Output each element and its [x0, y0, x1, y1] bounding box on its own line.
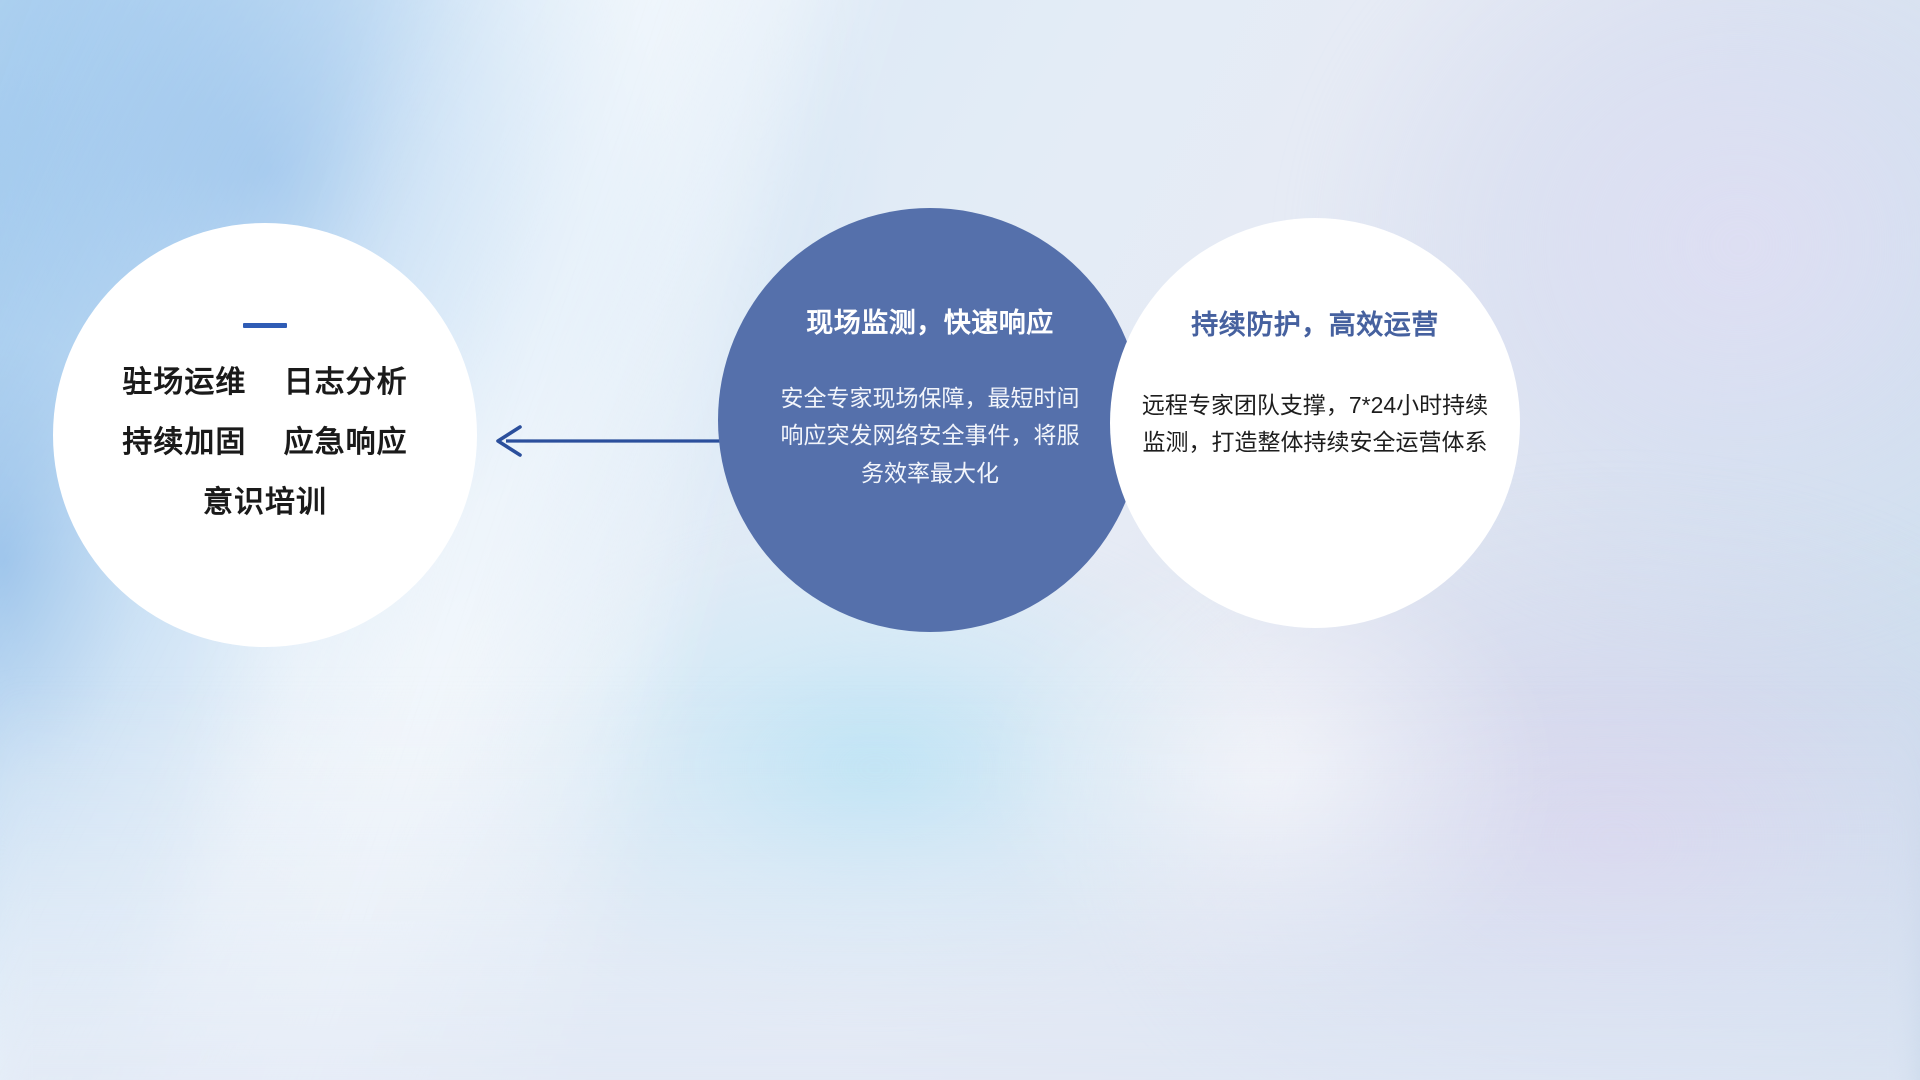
capability-line-3: 意识培训 — [53, 488, 477, 518]
capability-keyword-list: 驻场运维 日志分析 持续加固 应急响应 意识培训 — [53, 368, 477, 518]
right-continuous-protection-circle: 持续防护，高效运营 远程专家团队支撑，7*24小时持续监测，打造整体持续安全运营… — [1110, 218, 1520, 628]
middle-onsite-monitoring-circle: 现场监测，快速响应 安全专家现场保障，最短时间响应突发网络安全事件，将服务效率最… — [718, 208, 1142, 632]
capability-line-2: 持续加固 应急响应 — [53, 428, 477, 458]
right-circle-title: 持续防护，高效运营 — [1191, 303, 1439, 342]
background-bottom-mist — [0, 680, 1920, 1080]
middle-circle-title: 现场监测，快速响应 — [806, 301, 1054, 340]
middle-circle-body: 安全专家现场保障，最短时间响应突发网络安全事件，将服务效率最大化 — [780, 380, 1080, 492]
left-capability-circle: 驻场运维 日志分析 持续加固 应急响应 意识培训 — [53, 223, 477, 647]
capability-line-1: 驻场运维 日志分析 — [53, 368, 477, 398]
divider-dash — [243, 323, 287, 328]
right-circle-body: 远程专家团队支撑，7*24小时持续监测，打造整体持续安全运营体系 — [1137, 387, 1493, 462]
